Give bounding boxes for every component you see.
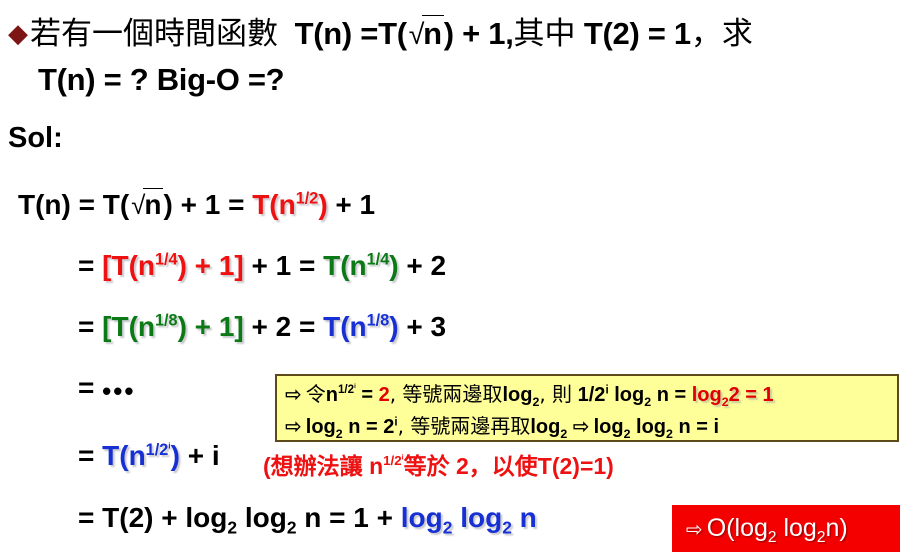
line3-bracket-group: [T(n1/8) + 1] [102,311,244,342]
line5-expr-group: T(n1/2i) [102,440,180,471]
line6-blue-group: log2 log2 n [401,502,537,533]
line6-blue-log2: log2 [460,502,512,533]
callout-r2-log4: log2 [636,416,673,438]
line1-tail: + 1 [335,189,375,220]
line1-lhs: T(n) [18,189,71,220]
line5-tail: + i [188,440,220,471]
callout-r2-log: log2 [306,416,343,438]
callout-r2-log2-sub: 2 [560,427,567,441]
arrow-right-icon: ⇨ [686,517,703,541]
line6-eq: = [78,502,94,533]
line5-red-note: (想辦法讓 n1/2i等於 2，以使T(2)=1) [263,447,614,481]
note-open-paren: ( [263,453,271,479]
note-cjk-1: 想辦法讓 [271,454,363,480]
line2-eq2: = [299,250,315,281]
callout-r2-log-sub: 2 [336,427,343,441]
derivation-line-3: = [T(n1/8) + 1] + 2 = T(n1/8) + 3 [78,311,446,343]
line2-result-group: T(n1/4) [323,250,398,281]
callout-r1-exponent: 1/2i [338,383,356,396]
callout-r2-log3: log2 [594,416,631,438]
note-n: n [369,453,383,479]
result-big-o: O(log [707,514,768,542]
line1-sqrt: √n [129,188,163,221]
derivation-line-5: = T(n1/2i) + i [78,440,220,472]
question-t-open: T( [378,16,407,51]
question-tail-cjk: 求 [722,16,753,52]
line5-eq: = [78,440,94,471]
line6-blue-log1-text: log [401,502,443,533]
note-cjk-2: 等於 [404,454,450,480]
question-comma-cjk: ， [691,16,722,52]
question-prefix-cjk: 若有一個時間函數 [30,16,278,52]
line2-result-exponent: 1/4 [367,251,390,269]
line1-t-close: ) [163,189,172,220]
callout-r2-log4-sub: 2 [666,427,673,441]
result-box: ⇨O(log2 log2n) [672,505,900,552]
line6-eq2: = [329,502,345,533]
arrow-right-icon: ⇨ [573,414,590,438]
line5-expr-exponent: 1/2i [146,441,171,459]
solution-label: Sol: [8,122,63,155]
derivation-line-6: = T(2) + log2 log2 n = 1 + log2 log2 n [78,502,537,534]
line6-one-plus: 1 + [353,502,393,533]
line2-bracket-mid: ) + 1] [178,250,244,281]
callout-r1-red-tail: 2 = 1 [729,384,774,406]
line2-plus: + 1 [252,250,292,281]
callout-r1-log2-sub: 2 [644,395,651,409]
line3-result-group: T(n1/8) [323,311,398,342]
note-tail: T(2)=1) [538,453,614,479]
line1-radicand: n [143,188,163,221]
callout-r1-n: n [326,384,338,406]
question-sqrt: √n [407,15,444,52]
line5-expr-close: ) [171,440,180,471]
line6-log2-sub: 2 [287,518,297,538]
callout-r2-tail: n = i [679,416,720,438]
line3-eq: = [78,311,94,342]
slide-canvas: ◆若有一個時間函數 T(n) =T(√n) + 1,其中 T(2) = 1，求 … [0,0,908,558]
callout-r1-log: log2 [502,384,539,406]
line3-eq2: = [299,311,315,342]
line6-blue-log2-text: log [460,502,502,533]
callout-r2-log2: log2 [530,416,567,438]
line1-highlight-head: T(n [252,189,296,220]
result-tail: n) [825,514,847,542]
callout-r1-two: 2 [379,384,390,406]
yellow-callout-box: ⇨令n1/2i = 2, 等號兩邊取log2, 則 1/2i log2 n = … [275,374,899,442]
line6-log2-text: log [245,502,287,533]
line3-result-close: ) [389,311,398,342]
line6-log1: log2 [185,502,237,533]
line6-plus: + [161,502,177,533]
callout-r1-red-group: log22 = 1 [692,384,774,406]
line1-plus1: + 1 [181,189,221,220]
line1-eq2: = [228,189,244,220]
line3-bracket-exponent: 1/8 [155,312,178,330]
question-line-2: T(n) = ? Big-O =? [38,62,284,98]
callout-r1-log2-text: log [614,384,644,406]
line6-t2: T(2) [102,502,153,533]
callout-r1-equals: = [361,384,378,406]
question-base-case: T(2) = 1 [584,16,691,51]
callout-r1-log2: log2 [614,384,651,406]
derivation-line-1: T(n) = T(√n) + 1 = T(n1/2) + 1 [18,188,375,221]
callout-r1-let: 令 [306,382,326,406]
callout-r1-frac: 1/2 [578,384,606,406]
callout-r1-exponent-sup: i [354,384,356,390]
result-mid: log [777,514,817,542]
callout-r2-n-eq: n = 2 [348,416,394,438]
callout-r2-cjk-mid: , 等號兩邊再取 [398,414,531,438]
question-equals: = [360,16,378,51]
callout-r2-log-text: log [306,416,336,438]
callout-r1-red-log: log2 [692,384,729,406]
question-plus-one: + 1, [462,16,513,51]
question-radicand: n [422,15,444,52]
derivation-line-2: = [T(n1/4) + 1] + 1 = T(n1/4) + 2 [78,250,446,282]
line5-expr-exponent-base: 1/2 [146,441,169,459]
note-exponent: 1/2i [383,453,403,468]
line3-result-exponent: 1/8 [367,312,390,330]
line2-bracket-group: [T(n1/4) + 1] [102,250,244,281]
note-cjk-3: 以使 [492,454,538,480]
callout-row-1: ⇨令n1/2i = 2, 等號兩邊取log2, 則 1/2i log2 n = … [285,379,891,411]
callout-r1-log-text: log [502,384,532,406]
callout-r2-log4-text: log [636,416,666,438]
callout-r1-exponent-base: 1/2 [338,383,354,396]
line6-log2: log2 [245,502,297,533]
callout-row-2: ⇨log2 n = 2i, 等號兩邊再取log2 ⇨log2 log2 n = … [285,411,891,443]
result-box-text: ⇨O(log2 log2n) [686,514,848,543]
note-two: 2 [456,453,469,479]
question-lhs: T(n) [295,16,352,51]
line2-result-close: ) [389,250,398,281]
callout-r1-frac-sup: i [605,383,608,396]
line2-result-head: T(n [323,250,367,281]
line1-eq1: = [79,189,95,220]
callout-r1-red-log-text: log [692,384,722,406]
callout-r2-log2-text: log [530,416,560,438]
line4-ellipsis: ••• [102,376,135,406]
line6-n: n [304,502,321,533]
note-comma: ， [469,454,492,480]
line2-bracket-exponent: 1/4 [155,251,178,269]
line3-tail: + 3 [406,311,446,342]
line6-log1-text: log [185,502,227,533]
line3-bracket-open: [T(n [102,311,155,342]
line3-bracket-mid: ) + 1] [178,311,244,342]
line6-log1-sub: 2 [227,518,237,538]
question-t-close: ) [444,16,454,51]
line3-result-head: T(n [323,311,367,342]
callout-r2-log3-text: log [594,416,624,438]
note-exponent-base: 1/2 [383,453,402,468]
line2-bracket-open: [T(n [102,250,155,281]
arrow-right-icon: ⇨ [285,382,302,406]
result-sub-1: 2 [768,529,777,546]
line6-blue-log1-sub: 2 [443,518,453,538]
line6-blue-log1: log2 [401,502,453,533]
callout-r2-log3-sub: 2 [624,427,631,441]
line1-highlight-close: ) [318,189,327,220]
bullet-diamond-icon: ◆ [8,18,28,48]
callout-r1-cjk-mid: , 等號兩邊取 [390,382,503,406]
line1-highlight-exponent: 1/2 [296,190,319,208]
line6-blue-n: n [520,502,537,533]
line2-tail: + 2 [406,250,446,281]
question-mid-cjk: 其中 [514,16,576,52]
arrow-right-icon: ⇨ [285,414,302,438]
callout-r1-n2: n = [657,384,686,406]
callout-r1-cjk-then: , 則 [539,382,572,406]
callout-r1-red-log-sub: 2 [722,395,729,409]
derivation-line-4: = ••• [78,372,135,407]
line3-plus: + 2 [252,311,292,342]
line2-eq: = [78,250,94,281]
line4-eq: = [78,372,94,403]
line6-blue-log2-sub: 2 [502,518,512,538]
line1-highlight: T(n1/2) [252,189,327,220]
line1-t-open: T( [103,189,129,220]
question-line-1: ◆若有一個時間函數 T(n) =T(√n) + 1,其中 T(2) = 1，求 [8,8,753,53]
line5-expr-head: T(n [102,440,146,471]
